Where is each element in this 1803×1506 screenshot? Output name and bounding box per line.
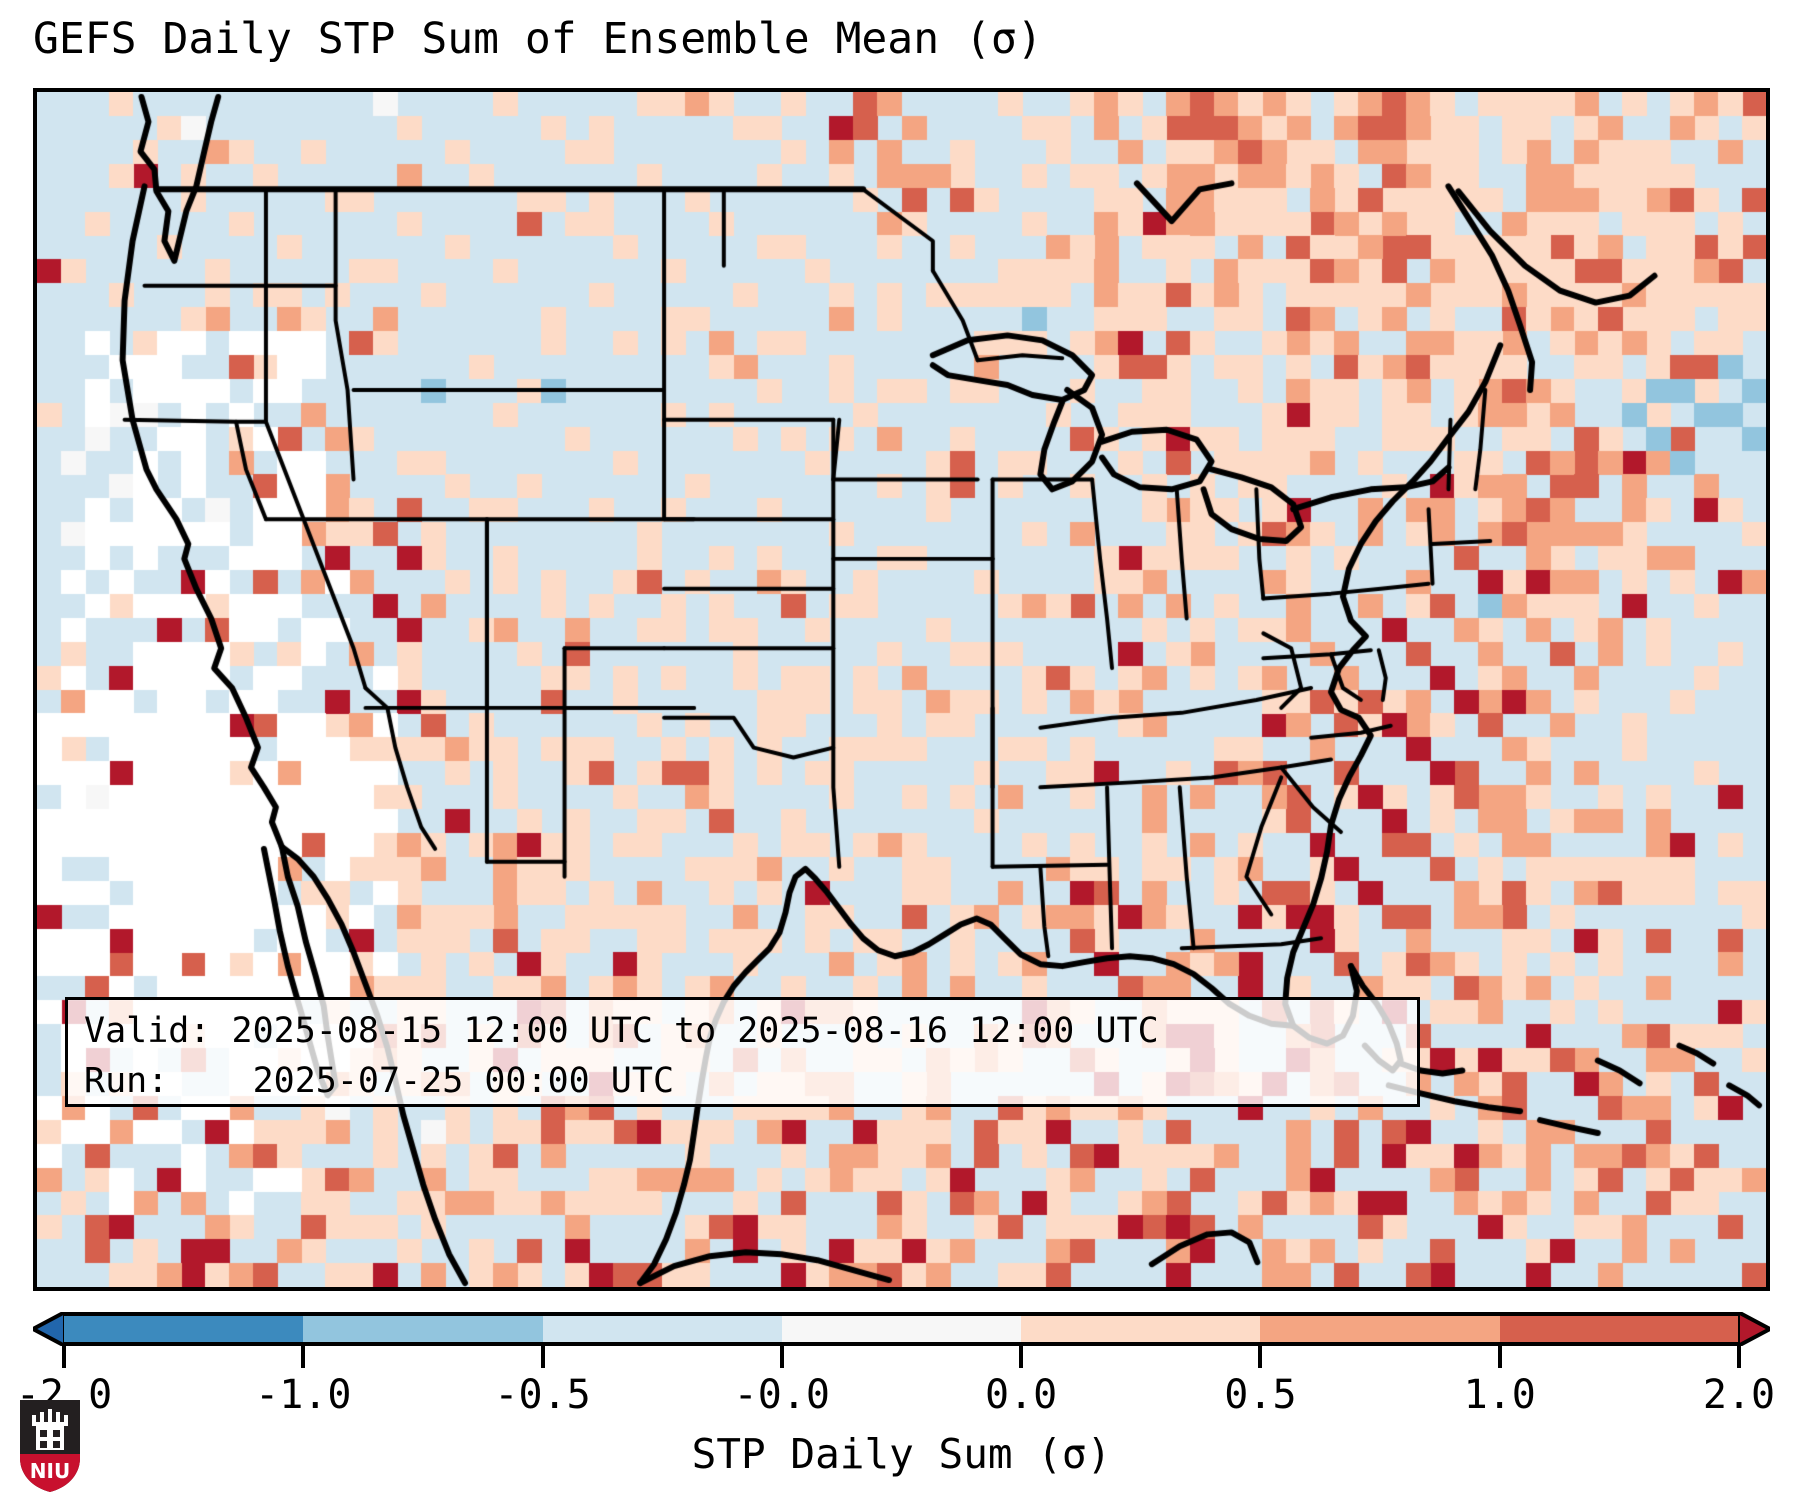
colorbar-band-5 bbox=[1260, 1316, 1499, 1342]
niu-logo: NIU bbox=[18, 1398, 82, 1494]
colorbar-tick-label-3: -0.0 bbox=[734, 1372, 830, 1418]
page-title-text: GEFS Daily STP Sum of Ensemble Mean (σ) bbox=[33, 14, 1043, 64]
colorbar-tick-4 bbox=[1019, 1346, 1023, 1368]
colorbar-tick-3 bbox=[780, 1346, 784, 1368]
colorbar-tick-7 bbox=[1737, 1346, 1741, 1368]
map-frame[interactable]: Valid: 2025-08-15 12:00 UTC to 2025-08-1… bbox=[33, 88, 1770, 1291]
colorbar-over-arrow bbox=[1738, 1312, 1770, 1346]
colorbar-band-4 bbox=[1021, 1316, 1260, 1342]
colorbar-tick-5 bbox=[1258, 1346, 1262, 1368]
annotation-run-line: Run: 2025-07-25 00:00 UTC bbox=[84, 1056, 1401, 1106]
colorbar-band-6 bbox=[1500, 1316, 1739, 1342]
annotation-box: Valid: 2025-08-15 12:00 UTC to 2025-08-1… bbox=[65, 997, 1420, 1107]
colorbar-band-2 bbox=[543, 1316, 782, 1342]
colorbar-tick-6 bbox=[1498, 1346, 1502, 1368]
annotation-valid-line: Valid: 2025-08-15 12:00 UTC to 2025-08-1… bbox=[84, 1006, 1401, 1056]
colorbar-tick-label-7: 2.0 bbox=[1703, 1372, 1775, 1418]
colorbar-tick-1 bbox=[301, 1346, 305, 1368]
colorbar-tick-0 bbox=[62, 1346, 66, 1368]
colorbar-tick-label-6: 1.0 bbox=[1464, 1372, 1536, 1418]
colorbar-track[interactable] bbox=[64, 1312, 1739, 1346]
colorbar-tick-2 bbox=[541, 1346, 545, 1368]
page-title: GEFS Daily STP Sum of Ensemble Mean (σ) bbox=[33, 14, 1773, 64]
niu-logo-text: NIU bbox=[30, 1459, 70, 1483]
heatmap-canvas[interactable] bbox=[37, 92, 1766, 1287]
colorbar-title-text: STP Daily Sum (σ) bbox=[692, 1430, 1112, 1478]
colorbar-tick-label-5: 0.5 bbox=[1224, 1372, 1296, 1418]
colorbar[interactable]: -2.0-1.0-0.5-0.00.00.51.02.0 bbox=[33, 1300, 1770, 1360]
colorbar-band-1 bbox=[303, 1316, 542, 1342]
colorbar-under-arrow bbox=[33, 1312, 65, 1346]
colorbar-band-3 bbox=[782, 1316, 1021, 1342]
colorbar-tick-label-4: 0.0 bbox=[985, 1372, 1057, 1418]
colorbar-band-0 bbox=[64, 1316, 303, 1342]
colorbar-title: STP Daily Sum (σ) bbox=[0, 1430, 1803, 1478]
colorbar-tick-label-1: -1.0 bbox=[255, 1372, 351, 1418]
colorbar-tick-label-2: -0.5 bbox=[494, 1372, 590, 1418]
